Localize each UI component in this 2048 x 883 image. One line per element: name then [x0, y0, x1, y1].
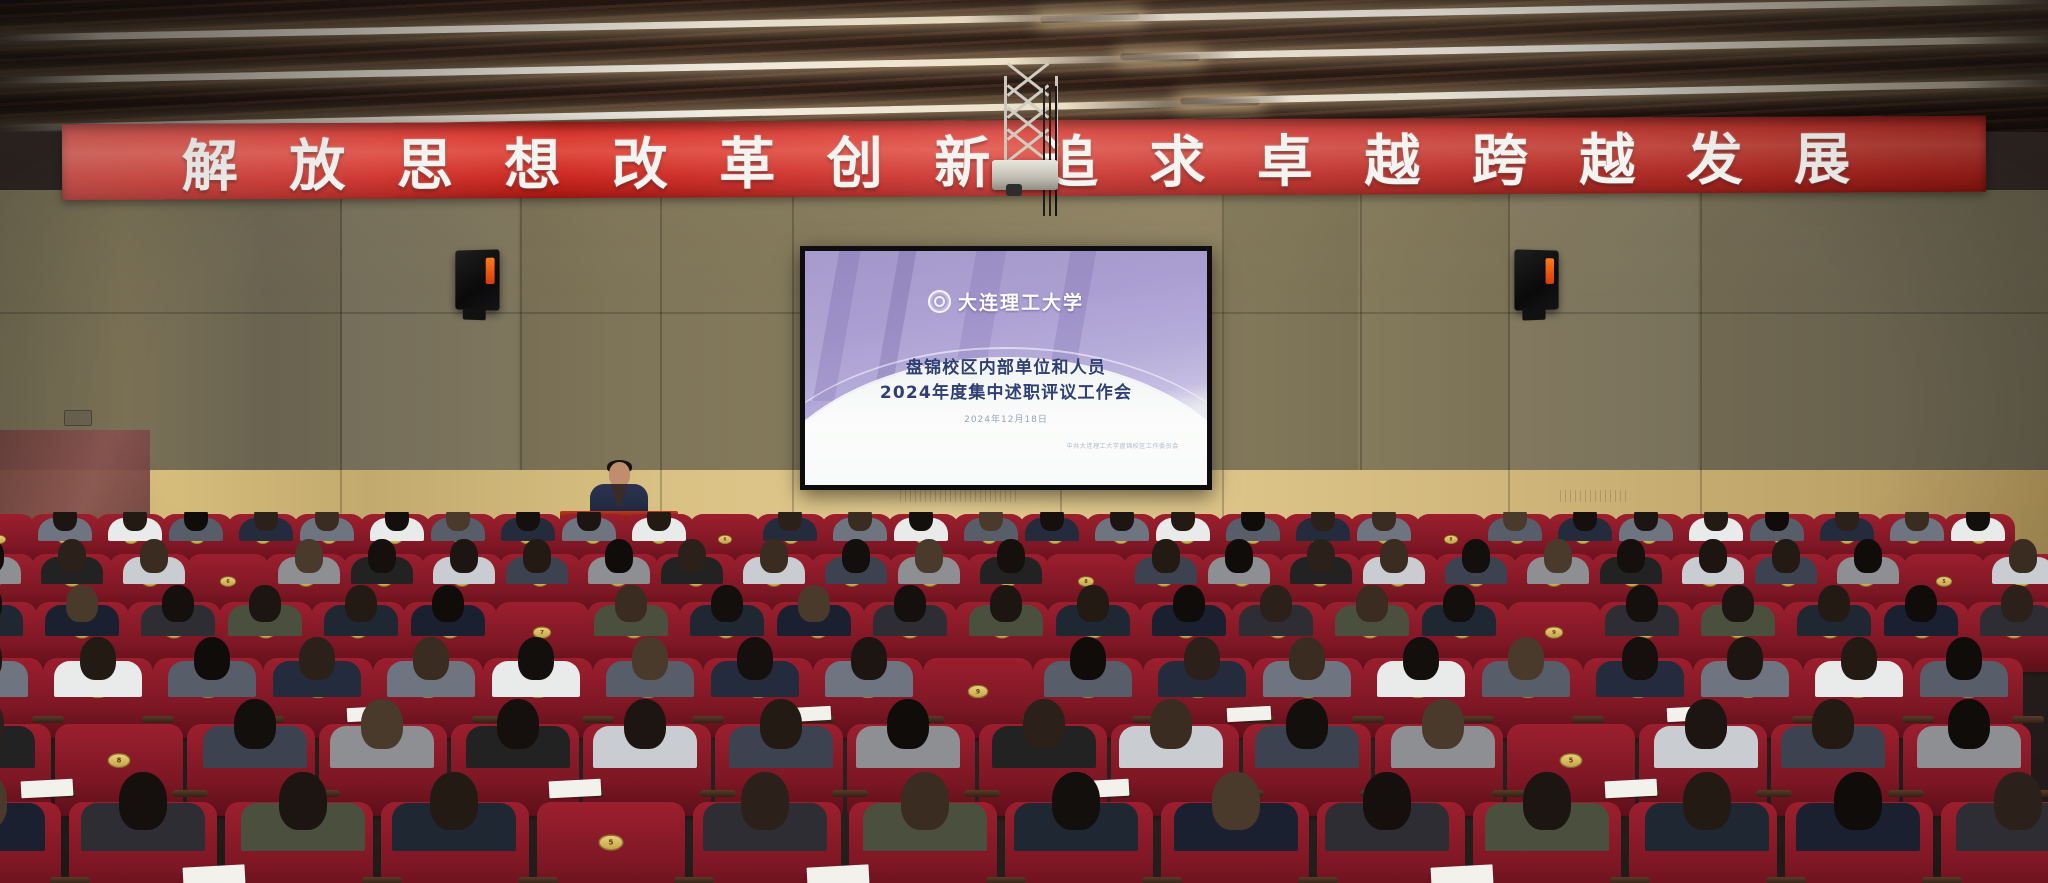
audience-member-head [162, 585, 193, 622]
seat-number-tag: 8 [108, 753, 131, 768]
audience-member-head [1818, 585, 1849, 622]
seat-armrest [832, 790, 868, 797]
projector-body [992, 160, 1058, 190]
auditorium-seat: 5 [544, 808, 678, 883]
audience-member-head [1241, 512, 1265, 531]
slide-title-line1: 盘锦校区内部单位和人员 [805, 356, 1207, 381]
audience-member-head [997, 539, 1025, 572]
audience-member-head [1523, 772, 1571, 830]
slide-title-line2: 2024年度集中述职评议工作会 [805, 381, 1207, 406]
seat-number-tag: 5 [1936, 576, 1952, 587]
audience-member-head [1812, 699, 1854, 749]
university-logo-text: 大连理工大学 [958, 288, 1084, 315]
audience-member-head [1311, 512, 1335, 531]
handout-paper [549, 779, 602, 799]
audience-member-head [1150, 699, 1192, 749]
seat-armrest [32, 716, 64, 723]
slide-title: 盘锦校区内部单位和人员 2024年度集中述职评议工作会 [805, 356, 1207, 405]
wall-control-box [64, 410, 92, 426]
seat-armrest [964, 790, 1000, 797]
seat-number-tag: 5 [1560, 753, 1583, 768]
projector-cables [1040, 86, 1064, 216]
audience-member-head [615, 585, 646, 622]
audience-member-head [1727, 637, 1763, 680]
seat-armrest [1610, 877, 1650, 883]
audience-member-head [516, 512, 540, 531]
seat-armrest [1922, 877, 1962, 883]
audience-member-head [194, 637, 230, 680]
audience-member-head [1173, 585, 1204, 622]
audience-member-head [1905, 585, 1936, 622]
audience-member-head [254, 512, 278, 531]
slide-org-footer: 中共大连理工大学盘锦校区工作委员会 [1067, 441, 1179, 450]
audience-member-head [518, 637, 554, 680]
audience-member-head [53, 512, 77, 531]
audience-member-head [798, 585, 829, 622]
seat-armrest [2012, 716, 2044, 723]
dut-emblem-icon [928, 290, 951, 313]
projection-screen: 大连理工大学 盘锦校区内部单位和人员 2024年度集中述职评议工作会 2024年… [800, 246, 1212, 490]
seat-armrest [518, 877, 558, 883]
audience-member-head [1699, 539, 1727, 572]
audience-member-head [2009, 539, 2037, 572]
audience-member-head [446, 512, 470, 531]
speaker-mount [1522, 308, 1545, 321]
audience-member-head [647, 512, 671, 531]
audience-member-head [345, 585, 376, 622]
audience-member-head [234, 699, 276, 749]
seat-number-tag: 9 [1545, 626, 1564, 638]
audience-member-head [1422, 699, 1464, 749]
seat-armrest [1766, 877, 1806, 883]
audience-member-head [430, 772, 478, 830]
seat-armrest [1462, 716, 1494, 723]
seat-armrest [1756, 790, 1792, 797]
audience-member-head [741, 772, 789, 830]
speaker-led [486, 258, 495, 284]
audience-member-head [678, 539, 706, 572]
audience-member-head [711, 585, 742, 622]
audience-member-head [1171, 512, 1195, 531]
seat-armrest [700, 790, 736, 797]
presentation-slide: 大连理工大学 盘锦校区内部单位和人员 2024年度集中述职评议工作会 2024年… [805, 251, 1207, 485]
audience-member-head [1403, 637, 1439, 680]
audience-member-head [1152, 539, 1180, 572]
audience-member-head [385, 512, 409, 531]
audience-member-head [123, 512, 147, 531]
audience-member-head [1834, 772, 1882, 830]
seat-armrest [1298, 877, 1338, 883]
seat-armrest [1572, 716, 1604, 723]
audience-member-head [778, 512, 802, 531]
audience-member-head [1286, 699, 1328, 749]
handout-paper [183, 864, 246, 883]
audience-member-shoulders [0, 661, 28, 697]
audience-member-head [1356, 585, 1387, 622]
audience-member-head [368, 539, 396, 572]
seat-armrest [362, 877, 402, 883]
audience-member-head [1070, 637, 1106, 680]
audience-member-head [737, 637, 773, 680]
audience-member-head [1683, 772, 1731, 830]
audience-member-head [901, 772, 949, 830]
audience-member-head [315, 512, 339, 531]
audience-member-head [851, 637, 887, 680]
audience-member-head [1722, 585, 1753, 622]
handout-paper [21, 779, 74, 799]
handout-paper [807, 864, 870, 883]
seat-armrest [1142, 877, 1182, 883]
handout-paper [1605, 779, 1658, 799]
audience-member-head [1854, 539, 1882, 572]
audience-member-head [1835, 512, 1859, 531]
audience-member-head [1966, 512, 1990, 531]
seat-number-tag: 6 [220, 576, 236, 587]
seat-number-tag: 5 [598, 834, 623, 850]
audience-member-head [1372, 512, 1396, 531]
audience-member-head [842, 539, 870, 572]
audience-member-head [58, 539, 86, 572]
seat-number-tag: 8 [1444, 535, 1458, 544]
audience-member-head [848, 512, 872, 531]
seat-armrest [692, 716, 724, 723]
audience-member-head [1462, 539, 1490, 572]
audience-member-head [1948, 699, 1990, 749]
audience-member-head [140, 539, 168, 572]
seat-armrest [582, 716, 614, 723]
audience-member-head [1617, 539, 1645, 572]
speaker-right-icon [1514, 249, 1558, 310]
audience-member-head [295, 539, 323, 572]
speaker-left-icon [455, 249, 499, 310]
seat-armrest [1902, 716, 1934, 723]
audience-member-head [497, 699, 539, 749]
audience-member-head [1634, 512, 1658, 531]
audience-member-head [432, 585, 463, 622]
audience-member-head [894, 585, 925, 622]
audience-member-head [760, 699, 802, 749]
university-logo: 大连理工大学 [805, 288, 1207, 315]
audience-member-head [1040, 512, 1064, 531]
audience-member-head [413, 637, 449, 680]
audience-member-head [909, 512, 933, 531]
audience-member-shoulders [0, 726, 35, 768]
audience-member-head [1994, 772, 2042, 830]
audience-member-head [1905, 512, 1929, 531]
audience-member-head [279, 772, 327, 830]
slide-date: 2024年12月18日 [805, 412, 1207, 425]
audience-member-head [1573, 512, 1597, 531]
audience-member-head [760, 539, 788, 572]
audience-member-head [1110, 512, 1134, 531]
audience-member-head [915, 539, 943, 572]
audience-member-head [1212, 772, 1260, 830]
handout-paper [1431, 864, 1494, 883]
audience-member-head [184, 512, 208, 531]
audience-member-head [979, 512, 1003, 531]
audience-member-head [1841, 637, 1877, 680]
audience-member-head [605, 539, 633, 572]
audience-member-head [1443, 585, 1474, 622]
seat-number-tag: 9 [968, 684, 989, 697]
audience-member-head [1685, 699, 1727, 749]
audience-member-head [361, 699, 403, 749]
seat-armrest [674, 877, 714, 883]
audience-member-head [1363, 772, 1411, 830]
audience-member-head [249, 585, 280, 622]
audience-member-head [119, 772, 167, 830]
projector-lens-icon [1006, 184, 1022, 196]
audience-member-head [1503, 512, 1527, 531]
audience-member-head [1544, 539, 1572, 572]
speaker-led [1546, 258, 1554, 284]
audience-member-head [523, 539, 551, 572]
audience-member-head [1765, 512, 1789, 531]
audience-member-head [1508, 637, 1544, 680]
seat-armrest [986, 877, 1026, 883]
audience-member-head [1704, 512, 1728, 531]
audience-member-head [1307, 539, 1335, 572]
audience-member-head [1380, 539, 1408, 572]
audience-member-head [80, 637, 116, 680]
audience-member-head [1077, 585, 1108, 622]
audience-member-head [1289, 637, 1325, 680]
seat-armrest [50, 877, 90, 883]
audience-member-head [624, 699, 666, 749]
audience-member-head [1946, 637, 1982, 680]
audience-member-head [1772, 539, 1800, 572]
audience-member-head [577, 512, 601, 531]
audience-member-head [450, 539, 478, 572]
seat-armrest [142, 716, 174, 723]
audience-member-head [632, 637, 668, 680]
seat-number-tag: 6 [718, 535, 732, 544]
audience-seating: 5678956789567856789567895678567895678956… [0, 512, 2048, 883]
audience-member-head [1260, 585, 1291, 622]
ceiling-projector [988, 60, 1068, 192]
audience-member-head [1023, 699, 1065, 749]
seat-armrest [172, 790, 208, 797]
audience-member-head [887, 699, 929, 749]
audience-member-head [299, 637, 335, 680]
auditorium-photo: 解 放 思 想 改 革 创 新 追 求 卓 越 跨 越 发 展 大连理 [0, 0, 2048, 883]
audience-member-head [1626, 585, 1657, 622]
audience-member-head [990, 585, 1021, 622]
seat-armrest [1888, 790, 1924, 797]
speaker-mount [463, 308, 486, 321]
audience-member-head [1184, 637, 1220, 680]
audience-member-head [1052, 772, 1100, 830]
audience-member-head [2001, 585, 2032, 622]
audience-member-head [1622, 637, 1658, 680]
audience-member-head [1225, 539, 1253, 572]
audience-member-head [66, 585, 97, 622]
seat-number-tag: 5 [0, 535, 6, 544]
seat-armrest [1352, 716, 1384, 723]
